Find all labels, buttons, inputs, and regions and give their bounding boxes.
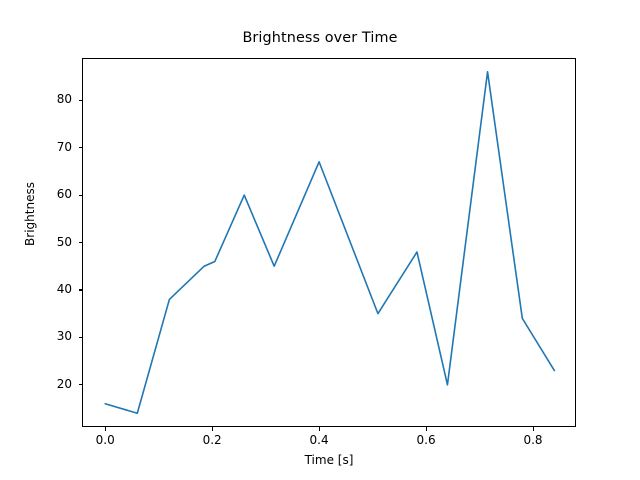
y-tick-mark: [79, 337, 83, 338]
x-tick-mark: [319, 427, 320, 431]
y-tick-label: 80: [4, 92, 72, 106]
y-tick-mark: [79, 195, 83, 196]
y-tick-mark: [79, 384, 83, 385]
y-tick-label: 50: [4, 235, 72, 249]
x-tick-label: 0.8: [503, 433, 563, 447]
chart-title: Brightness over Time: [0, 30, 640, 46]
plot-area: [82, 58, 576, 427]
y-tick-label: 70: [4, 140, 72, 154]
chart-figure: Brightness over Time 20304050607080 0.00…: [0, 0, 640, 480]
y-tick-mark: [79, 242, 83, 243]
x-axis-label: Time [s]: [82, 453, 576, 467]
x-tick-label: 0.0: [75, 433, 135, 447]
y-tick-label: 30: [4, 329, 72, 343]
y-tick-label: 60: [4, 187, 72, 201]
x-tick-label: 0.2: [182, 433, 242, 447]
x-tick-label: 0.4: [289, 433, 349, 447]
y-tick-mark: [79, 289, 83, 290]
x-tick-mark: [105, 427, 106, 431]
x-tick-mark: [533, 427, 534, 431]
y-tick-mark: [79, 100, 83, 101]
line-series-brightness: [105, 72, 554, 414]
y-tick-label: 40: [4, 282, 72, 296]
y-axis-label: Brightness: [23, 114, 37, 314]
x-tick-label: 0.6: [396, 433, 456, 447]
y-tick-label: 20: [4, 377, 72, 391]
y-tick-mark: [79, 147, 83, 148]
x-tick-mark: [426, 427, 427, 431]
x-tick-mark: [212, 427, 213, 431]
